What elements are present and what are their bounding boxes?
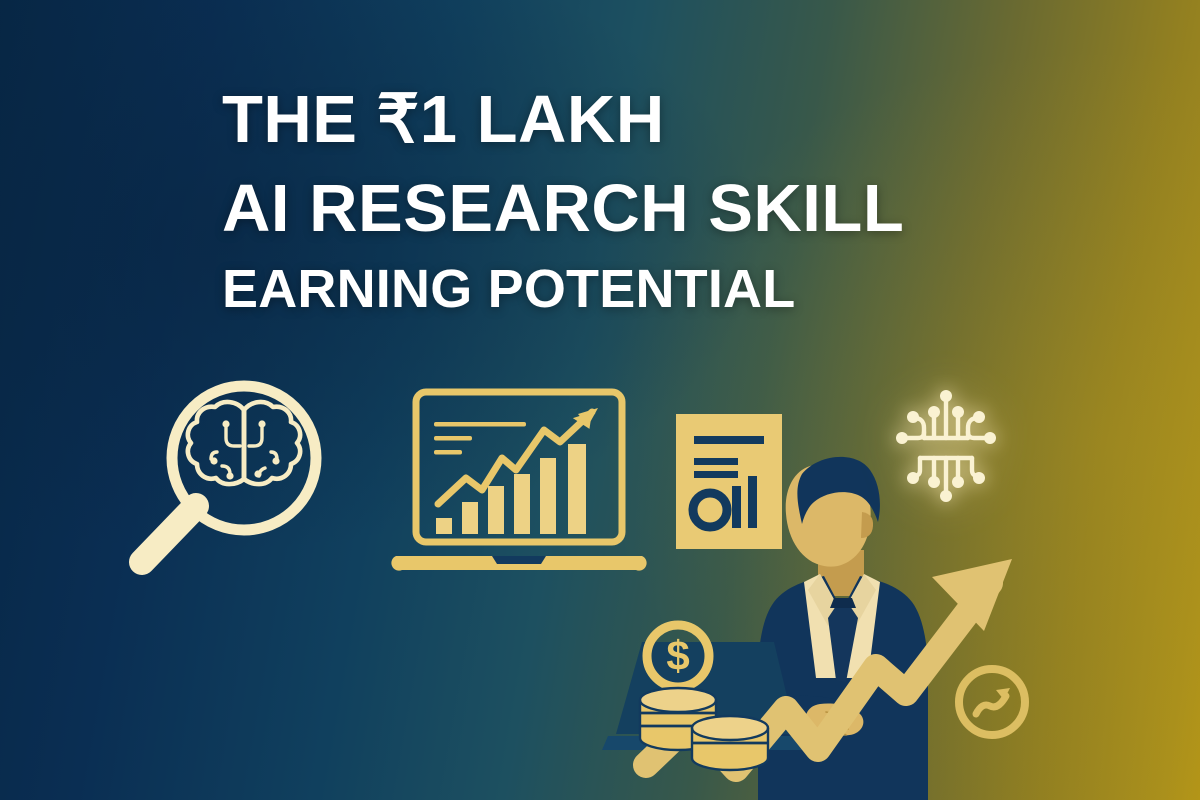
magnifier-brain-icon bbox=[118, 374, 346, 584]
ai-circuit-node-icon bbox=[884, 388, 1008, 504]
dollar-sign-glyph: $ bbox=[666, 632, 689, 679]
headline-line-1: THE ₹1 LAKH bbox=[222, 86, 904, 153]
laptop-growth-chart-icon bbox=[392, 386, 646, 586]
circled-growth-arrow-icon bbox=[946, 656, 1038, 748]
headline-block: THE ₹1 LAKH AI RESEARCH SKILL EARNING PO… bbox=[222, 86, 904, 316]
gold-coins-icon: $ bbox=[626, 620, 786, 780]
headline-line-2: AI RESEARCH SKILL bbox=[222, 175, 904, 242]
banner-canvas: THE ₹1 LAKH AI RESEARCH SKILL EARNING PO… bbox=[0, 0, 1200, 800]
headline-line-3: EARNING POTENTIAL bbox=[222, 262, 904, 316]
